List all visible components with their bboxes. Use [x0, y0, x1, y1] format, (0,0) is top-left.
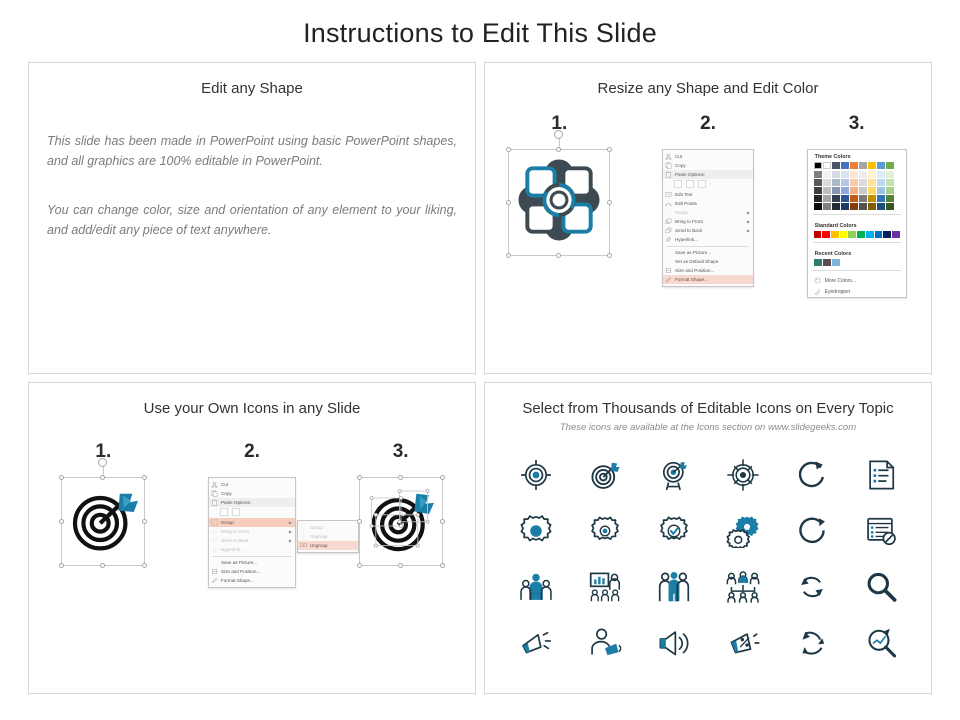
swatch-tint[interactable]	[886, 195, 894, 202]
handle-top-left[interactable]	[59, 475, 64, 480]
circular-arrows-icon	[795, 626, 829, 660]
no-icon	[665, 249, 672, 256]
swatch-tint[interactable]	[868, 179, 876, 186]
group-icon	[300, 524, 307, 531]
swatch-tint[interactable]	[877, 171, 885, 178]
handle-middle-left[interactable]	[506, 200, 511, 205]
swatch-tint[interactable]	[814, 203, 822, 210]
icon-cell[interactable]	[657, 458, 691, 492]
submenu-label: Group	[310, 525, 355, 530]
theme-tint-row[interactable]	[808, 202, 906, 210]
menu-item-copy[interactable]: Copy	[209, 489, 295, 498]
body-paragraph-2: You can change color, size and orientati…	[47, 200, 457, 241]
panel-editable-icons: Select from Thousands of Editable Icons …	[484, 382, 932, 694]
swatch-theme[interactable]	[841, 162, 849, 169]
swatch-tint[interactable]	[850, 195, 858, 202]
person-megaphone-icon	[588, 626, 622, 660]
swatch-theme[interactable]	[832, 162, 840, 169]
handle-bottom-left[interactable]	[357, 563, 362, 568]
menu-item-group[interactable]: Group ▶	[663, 208, 753, 217]
paste-icon	[211, 499, 218, 506]
palette-icon	[814, 277, 821, 284]
swatch-standard[interactable]	[883, 231, 891, 238]
menu-item-send-to-back[interactable]: Send to Back ▶	[209, 536, 295, 545]
org-chart-people-icon	[726, 570, 760, 604]
menu-label: Copy	[221, 491, 292, 496]
swatch-tint[interactable]	[841, 195, 849, 202]
swatch-tint[interactable]	[823, 179, 831, 186]
icon-cell[interactable]	[726, 626, 760, 660]
menu-item-paste-options[interactable]: Paste Options:	[209, 498, 295, 507]
eyedropper-icon	[814, 288, 821, 295]
swatch-tint[interactable]	[832, 203, 840, 210]
menu-item-format-shape[interactable]: Format Shape...	[663, 275, 753, 284]
swatch-tint[interactable]	[850, 187, 858, 194]
swatch-tint[interactable]	[859, 171, 867, 178]
page-title: Instructions to Edit This Slide	[0, 0, 960, 50]
icon-cell[interactable]	[519, 514, 553, 548]
regroup-icon	[300, 533, 307, 540]
gear-check-icon	[657, 514, 691, 548]
menu-label: Copy	[675, 163, 750, 168]
no-icon	[211, 559, 218, 566]
panel-title-resize-shape: Resize any Shape and Edit Color	[485, 63, 931, 97]
icon-cell[interactable]	[588, 570, 622, 604]
submenu-arrow-icon: ▶	[747, 219, 750, 224]
theme-tint-row[interactable]	[808, 170, 906, 178]
step-number-3: 3.	[326, 441, 475, 463]
swatch-standard[interactable]	[822, 231, 830, 238]
team-group-icon	[519, 570, 553, 604]
swatch-recent[interactable]	[823, 259, 831, 266]
copy-icon	[665, 162, 672, 169]
submenu-arrow-icon: ▶	[289, 538, 292, 543]
more-colors-button[interactable]: More Colors...	[808, 275, 906, 286]
swatch-tint[interactable]	[868, 187, 876, 194]
handle-top-middle[interactable]	[100, 475, 105, 480]
icon-cell[interactable]	[795, 514, 829, 548]
menu-label: Set as Default Shape	[675, 259, 750, 264]
swatch-tint[interactable]	[886, 203, 894, 210]
icon-cell[interactable]	[588, 626, 622, 660]
swatch-tint[interactable]	[841, 203, 849, 210]
icon-cell[interactable]	[864, 514, 898, 548]
menu-label: Bring to Front	[675, 219, 744, 224]
edit-points-icon	[665, 200, 672, 207]
icon-cell[interactable]	[795, 626, 829, 660]
swatch-tint[interactable]	[841, 179, 849, 186]
swatch-standard[interactable]	[857, 231, 865, 238]
handle-middle-right[interactable]	[607, 200, 612, 205]
menu-item-save-as-picture[interactable]: Save as Picture...	[663, 248, 753, 257]
swatch-tint[interactable]	[877, 187, 885, 194]
panel-title-editable-icons: Select from Thousands of Editable Icons …	[485, 383, 931, 417]
swatch-tint[interactable]	[823, 187, 831, 194]
handle-bottom-right[interactable]	[440, 563, 445, 568]
copy-icon	[211, 490, 218, 497]
megaphone-percent-icon	[726, 626, 760, 660]
icon-cell[interactable]	[726, 458, 760, 492]
selected-shape-frame[interactable]	[508, 149, 610, 256]
eyedropper-label: Eyedropper	[825, 289, 851, 295]
gear-small-center-icon	[588, 514, 622, 548]
swatch-standard[interactable]	[814, 231, 822, 238]
send-back-icon	[665, 227, 672, 234]
shape-context-menu[interactable]: Cut Copy Paste Options:	[662, 149, 754, 287]
document-check-list-icon	[864, 514, 898, 548]
menu-item-group[interactable]: Group ▶	[209, 518, 295, 527]
handle-bottom-middle[interactable]	[100, 563, 105, 568]
paste-option-keep-formatting[interactable]	[674, 180, 682, 188]
swatch-tint[interactable]	[850, 171, 858, 178]
handle-middle-right[interactable]	[142, 519, 147, 524]
selected-icon-frame-ungrouped[interactable]	[359, 477, 443, 566]
swatch-tint[interactable]	[823, 195, 831, 202]
swatch-tint[interactable]	[823, 171, 831, 178]
dartboard-arrow-icon	[588, 458, 622, 492]
recent-colors-label: Recent Colors	[808, 247, 906, 259]
panel-grid: Edit any Shape This slide has been made …	[28, 62, 932, 694]
format-shape-icon	[211, 577, 218, 584]
group-icon	[665, 209, 672, 216]
own-icons-step-numbers: 1. 2. 3.	[29, 441, 475, 463]
paste-icon	[665, 171, 672, 178]
step-number-2: 2.	[634, 113, 783, 135]
handle-top-middle[interactable]	[556, 147, 561, 152]
bring-front-icon	[211, 528, 218, 535]
handle-bottom-right[interactable]	[142, 563, 147, 568]
swatch-tint[interactable]	[868, 171, 876, 178]
menu-item-bring-to-front[interactable]: Bring to Front ▶	[209, 527, 295, 536]
menu-separator	[667, 246, 749, 247]
theme-tint-row[interactable]	[808, 178, 906, 186]
scissors-icon	[665, 153, 672, 160]
selected-icon-frame-grouped[interactable]	[61, 477, 145, 566]
menu-label: Paste Options:	[675, 172, 750, 177]
handle-top-left[interactable]	[357, 475, 362, 480]
swatch-tint[interactable]	[850, 179, 858, 186]
menu-item-paste-options[interactable]: Paste Options:	[663, 170, 753, 179]
recent-colors-row[interactable]	[808, 259, 906, 266]
submenu-item-group[interactable]: Group	[298, 523, 358, 532]
menu-item-copy[interactable]: Copy	[663, 161, 753, 170]
icon-cell[interactable]	[795, 458, 829, 492]
handle-bottom-middle[interactable]	[398, 563, 403, 568]
handle-bottom-right[interactable]	[607, 253, 612, 258]
dartboard-with-arrow-ungrouped-icon	[366, 484, 436, 554]
paste-option-picture[interactable]	[686, 180, 694, 188]
icon-context-menu[interactable]: Cut Copy Paste Options:	[208, 477, 296, 588]
swatch-standard[interactable]	[875, 231, 883, 238]
step-number-3: 3.	[782, 113, 931, 135]
gear-solid-icon	[519, 514, 553, 548]
menu-label: Hyperlink...	[675, 237, 750, 242]
swatch-tint[interactable]	[859, 203, 867, 210]
swatch-standard[interactable]	[866, 231, 874, 238]
icon-cell[interactable]	[657, 514, 691, 548]
menu-label: Cut	[675, 154, 750, 159]
refresh-circle-icon	[795, 514, 829, 548]
panel-resize-shape: Resize any Shape and Edit Color 1. 2. 3.	[484, 62, 932, 374]
icon-cell[interactable]	[864, 570, 898, 604]
eyedropper-button[interactable]: Eyedropper	[808, 286, 906, 297]
menu-label: Size and Position...	[221, 569, 292, 574]
menu-item-set-as-default-shape[interactable]: Set as Default Shape	[663, 257, 753, 266]
paste-option-keep-formatting[interactable]	[220, 508, 228, 516]
menu-label: Size and Position...	[675, 268, 750, 273]
menu-label: Edit Points	[675, 201, 750, 206]
edit-shape-body: This slide has been made in PowerPoint u…	[29, 97, 475, 240]
icon-cell[interactable]	[519, 570, 553, 604]
bring-front-icon	[665, 218, 672, 225]
icon-cell[interactable]	[588, 514, 622, 548]
swatch-tint[interactable]	[832, 195, 840, 202]
no-icon	[665, 258, 672, 265]
swatch-tint[interactable]	[832, 171, 840, 178]
icon-cell[interactable]	[795, 570, 829, 604]
swatch-theme[interactable]	[868, 162, 876, 169]
send-back-icon	[211, 537, 218, 544]
menu-item-send-to-back[interactable]: Send to Back ▶	[663, 226, 753, 235]
handle-top-middle[interactable]	[398, 475, 403, 480]
menu-item-bring-to-front[interactable]: Bring to Front ▶	[663, 217, 753, 226]
handle-bottom-left[interactable]	[59, 563, 64, 568]
menu-label: Edit Text	[675, 192, 750, 197]
menu-item-cut[interactable]: Cut	[209, 480, 295, 489]
picker-separator	[813, 270, 901, 271]
menu-label: Group	[675, 210, 744, 215]
picker-separator	[813, 242, 901, 243]
menu-item-size-and-position[interactable]: Size and Position...	[663, 266, 753, 275]
swatch-tint[interactable]	[814, 187, 822, 194]
target-stand-icon	[657, 458, 691, 492]
icon-gallery-grid	[485, 433, 931, 685]
checklist-document-icon	[864, 458, 898, 492]
picker-separator	[813, 214, 901, 215]
color-picker-dropdown[interactable]: Theme Colors	[807, 149, 907, 298]
paste-option-buttons	[209, 507, 295, 518]
menu-label: Hyperlink...	[221, 547, 292, 552]
standard-colors-row[interactable]	[808, 231, 906, 238]
menu-item-save-as-picture[interactable]: Save as Picture...	[209, 558, 295, 567]
size-position-icon	[211, 568, 218, 575]
megaphone-icon	[519, 626, 553, 660]
menu-item-edit-text[interactable]: Edit Text	[663, 190, 753, 199]
more-colors-label: More Colors...	[825, 278, 856, 284]
submenu-item-ungroup[interactable]: Ungroup	[298, 541, 358, 550]
icon-cell[interactable]	[657, 570, 691, 604]
submenu-arrow-icon: ▶	[289, 520, 292, 525]
hyperlink-icon	[665, 236, 672, 243]
swatch-standard[interactable]	[831, 231, 839, 238]
icon-cell[interactable]	[657, 626, 691, 660]
menu-item-hyperlink[interactable]: Hyperlink...	[663, 235, 753, 244]
swatch-tint[interactable]	[814, 179, 822, 186]
menu-label: Bring to Front	[221, 529, 286, 534]
icon-cell[interactable]	[519, 626, 553, 660]
menu-label: Send to Back	[675, 228, 744, 233]
three-people-icon	[657, 570, 691, 604]
speaker-horn-icon	[657, 626, 691, 660]
icon-cell[interactable]	[726, 570, 760, 604]
swatch-recent[interactable]	[832, 259, 840, 266]
swatch-tint[interactable]	[859, 179, 867, 186]
submenu-arrow-icon: ▶	[289, 529, 292, 534]
submenu-arrow-icon: ▶	[747, 228, 750, 233]
swatch-tint[interactable]	[823, 203, 831, 210]
swatch-tint[interactable]	[859, 195, 867, 202]
menu-label: Format Shape...	[221, 578, 292, 583]
menu-label: Save as Picture...	[221, 560, 292, 565]
standard-colors-label: Standard Colors	[808, 219, 906, 231]
panel-edit-any-shape: Edit any Shape This slide has been made …	[28, 62, 476, 374]
menu-label: Group	[221, 520, 286, 525]
swatch-tint[interactable]	[886, 179, 894, 186]
swatch-recent[interactable]	[814, 259, 822, 266]
sync-arrows-icon	[795, 570, 829, 604]
panel-own-icons: Use your Own Icons in any Slide 1. 2. 3.	[28, 382, 476, 694]
swatch-theme[interactable]	[859, 162, 867, 169]
paste-option-picture[interactable]	[232, 508, 240, 516]
swatch-tint[interactable]	[877, 203, 885, 210]
theme-colors-row[interactable]	[808, 162, 906, 169]
swatch-tint[interactable]	[814, 195, 822, 202]
panel-subtitle-editable-icons: These icons are available at the Icons s…	[485, 417, 931, 433]
crosshair-target-icon	[519, 458, 553, 492]
icon-cell[interactable]	[864, 458, 898, 492]
handle-top-right[interactable]	[607, 147, 612, 152]
swatch-tint[interactable]	[886, 171, 894, 178]
menu-label: Format Shape...	[675, 277, 750, 282]
two-gears-icon	[726, 514, 760, 548]
swatch-standard[interactable]	[848, 231, 856, 238]
submenu-item-regroup[interactable]: Regroup	[298, 532, 358, 541]
submenu-label: Regroup	[310, 534, 355, 539]
format-shape-icon	[665, 276, 672, 283]
menu-label: Paste Options:	[221, 500, 292, 505]
menu-item-edit-points[interactable]: Edit Points	[663, 199, 753, 208]
scope-crosshair-icon	[726, 458, 760, 492]
swatch-tint[interactable]	[868, 195, 876, 202]
paste-option-keep-text[interactable]	[698, 180, 706, 188]
hyperlink-icon	[211, 546, 218, 553]
theme-tint-row[interactable]	[808, 194, 906, 202]
handle-middle-left[interactable]	[59, 519, 64, 524]
own-icons-artwork: Cut Copy Paste Options:	[29, 477, 475, 588]
refresh-clockwise-icon	[795, 458, 829, 492]
theme-tint-row[interactable]	[808, 186, 906, 194]
body-paragraph-1: This slide has been made in PowerPoint u…	[47, 131, 457, 172]
swatch-theme[interactable]	[823, 162, 831, 169]
resize-step-numbers: 1. 2. 3.	[485, 113, 931, 135]
menu-item-hyperlink[interactable]: Hyperlink...	[209, 545, 295, 554]
group-icon	[211, 519, 218, 526]
menu-item-cut[interactable]: Cut	[663, 152, 753, 161]
icon-cell[interactable]	[864, 626, 898, 660]
paste-option-buttons	[663, 179, 753, 190]
swatch-tint[interactable]	[832, 187, 840, 194]
swatch-tint[interactable]	[877, 179, 885, 186]
menu-item-size-and-position[interactable]: Size and Position...	[209, 567, 295, 576]
step-number-2: 2.	[178, 441, 327, 463]
swatch-tint[interactable]	[832, 179, 840, 186]
panel-title-own-icons: Use your Own Icons in any Slide	[29, 383, 475, 417]
menu-separator	[213, 556, 291, 557]
magnifier-target-icon	[864, 626, 898, 660]
handle-top-right[interactable]	[440, 475, 445, 480]
swatch-standard[interactable]	[892, 231, 900, 238]
swatch-tint[interactable]	[868, 203, 876, 210]
swatch-theme[interactable]	[877, 162, 885, 169]
submenu-arrow-icon: ▶	[747, 210, 750, 215]
swatch-theme[interactable]	[814, 162, 822, 169]
handle-top-left[interactable]	[506, 147, 511, 152]
menu-label: Save as Picture...	[675, 250, 750, 255]
swatch-tint[interactable]	[814, 171, 822, 178]
handle-top-right[interactable]	[142, 475, 147, 480]
slide-canvas: Instructions to Edit This Slide Edit any…	[0, 0, 960, 720]
swatch-theme[interactable]	[850, 162, 858, 169]
swatch-tint[interactable]	[841, 187, 849, 194]
magnifier-icon	[864, 570, 898, 604]
handle-middle-right[interactable]	[440, 519, 445, 524]
edit-text-icon	[665, 191, 672, 198]
rotation-handle[interactable]	[554, 130, 563, 139]
resize-step-artwork: Cut Copy Paste Options:	[485, 149, 931, 298]
rotation-handle[interactable]	[98, 458, 107, 467]
dartboard-with-arrow-icon	[68, 484, 138, 554]
group-submenu[interactable]: Group Regroup Ungroup	[297, 520, 359, 553]
theme-colors-label: Theme Colors	[808, 150, 906, 162]
ungroup-icon	[300, 542, 307, 549]
swatch-theme[interactable]	[886, 162, 894, 169]
swatch-tint[interactable]	[850, 203, 858, 210]
handle-middle-left[interactable]	[357, 519, 362, 524]
swatch-tint[interactable]	[886, 187, 894, 194]
icon-cell[interactable]	[726, 514, 760, 548]
theme-tint-grid[interactable]	[808, 169, 906, 210]
swatch-tint[interactable]	[859, 187, 867, 194]
size-position-icon	[665, 267, 672, 274]
four-square-pinwheel-shape-icon	[515, 156, 603, 244]
swatch-tint[interactable]	[841, 171, 849, 178]
submenu-label: Ungroup	[310, 543, 355, 548]
panel-title-edit-shape: Edit any Shape	[29, 63, 475, 97]
icon-cell[interactable]	[519, 458, 553, 492]
handle-bottom-left[interactable]	[506, 253, 511, 258]
menu-label: Cut	[221, 482, 292, 487]
presentation-audience-icon	[588, 570, 622, 604]
swatch-standard[interactable]	[840, 231, 848, 238]
scissors-icon	[211, 481, 218, 488]
icon-cell[interactable]	[588, 458, 622, 492]
menu-label: Send to Back	[221, 538, 286, 543]
handle-bottom-middle[interactable]	[556, 253, 561, 258]
menu-item-format-shape[interactable]: Format Shape...	[209, 576, 295, 585]
swatch-tint[interactable]	[877, 195, 885, 202]
